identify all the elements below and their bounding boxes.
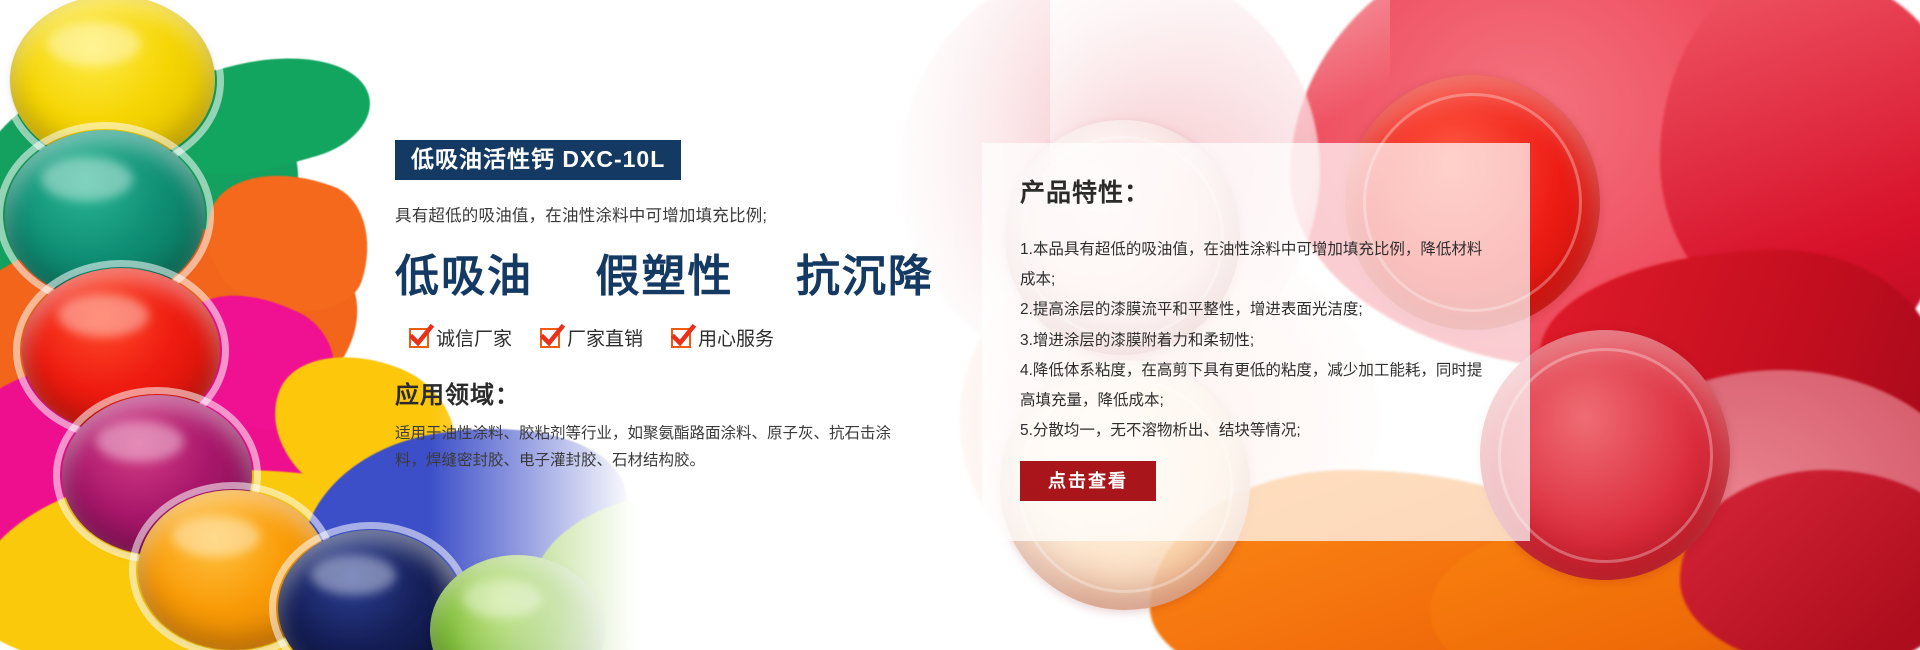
product-subtitle: 具有超低的吸油值，在油性涂料中可增加填充比例; (395, 202, 915, 226)
headline-part-2: 假塑性 (595, 252, 733, 301)
product-headline: 低吸油 假塑性 抗沉降 (395, 240, 915, 304)
view-details-button[interactable]: 点击查看 (1020, 461, 1156, 501)
panel-inner: 产品特性： 1.本品具有超低的吸油值，在油性涂料中可增加填充比例，降低材料成本;… (982, 143, 1530, 447)
feature-item-service: 用心服务 (671, 324, 774, 351)
product-characteristics-panel: 产品特性： 1.本品具有超低的吸油值，在油性涂料中可增加填充比例，降低材料成本;… (982, 143, 1530, 541)
paint-puddle-crimson-right (1660, 0, 1920, 350)
feature-label-trustworthy: 诚信厂家 (436, 324, 512, 351)
paint-puddle-deep-red (1540, 250, 1920, 480)
characteristics-list: 1.本品具有超低的吸油值，在油性涂料中可增加填充比例，降低材料成本; 2.提高涂… (1020, 235, 1496, 447)
paint-pot-red (22, 268, 220, 433)
paint-pot-red-rim (13, 260, 229, 441)
paint-pot-green (430, 555, 605, 650)
checkbox-checked-icon (540, 328, 560, 348)
paint-stroke-magenta-tail (157, 272, 359, 453)
checkbox-checked-icon (409, 328, 429, 348)
product-banner: 低吸油活性钙 DXC-10L 具有超低的吸油值，在油性涂料中可增加填充比例; 低… (0, 0, 1920, 650)
paint-stroke-orange (0, 202, 373, 478)
characteristic-item-2: 2.提高涂层的漆膜流平和平整性，增进表面光洁度; (1020, 295, 1496, 325)
application-fields-body: 适用于油性涂料、胶粘剂等行业，如聚氨酯路面涂料、原子灰、抗石击涂料，焊缝密封胶、… (395, 420, 895, 474)
feature-item-direct-sales: 厂家直销 (540, 324, 643, 351)
paint-pot-magenta (62, 395, 252, 555)
product-title-badge: 低吸油活性钙 DXC-10L (395, 140, 681, 180)
paint-stroke-green (0, 37, 322, 352)
panel-heading: 产品特性： (1020, 173, 1496, 209)
left-paint-artwork (0, 0, 1920, 650)
left-content-column: 低吸油活性钙 DXC-10L 具有超低的吸油值，在油性涂料中可增加填充比例; 低… (395, 140, 915, 474)
paint-pot-teal-rim (0, 122, 214, 308)
headline-part-1: 低吸油 (395, 252, 533, 301)
paint-puddle-crimson-bottom (1680, 470, 1920, 650)
paint-stroke-green-tail (139, 32, 381, 198)
paint-pot-teal (5, 130, 205, 300)
feature-label-service: 用心服务 (698, 324, 774, 351)
paint-pot-orange (138, 490, 328, 650)
paint-pot-navy (278, 530, 463, 650)
paint-pot-yellow-rim (2, 0, 224, 174)
characteristic-item-4: 4.降低体系粘度，在高剪下具有更低的粘度，减少加工能耗，同时提高填充量，降低成本… (1020, 356, 1496, 416)
paint-pot-orange-rim (129, 482, 337, 650)
feature-item-trustworthy: 诚信厂家 (409, 324, 512, 351)
paint-stroke-magenta (0, 331, 388, 579)
feature-label-direct-sales: 厂家直销 (567, 324, 643, 351)
headline-part-3: 抗沉降 (796, 252, 934, 301)
characteristic-item-1: 1.本品具有超低的吸油值，在油性涂料中可增加填充比例，降低材料成本; (1020, 235, 1496, 295)
characteristic-item-5: 5.分散均一，无不溶物析出、结块等情况; (1020, 416, 1496, 446)
paint-pot-magenta-rim (53, 387, 261, 563)
paint-puddle-rose-wash (1580, 370, 1920, 650)
paint-stroke-orange-tail (188, 153, 387, 332)
checkbox-checked-icon (671, 328, 691, 348)
paint-pot-navy-rim (269, 522, 472, 650)
application-fields-heading: 应用领域： (395, 375, 915, 410)
paint-stroke-yellow (0, 454, 446, 650)
feature-badge-row: 诚信厂家 厂家直销 用心服务 (409, 324, 915, 351)
paint-stroke-lime (521, 479, 808, 650)
right-paint-artwork (0, 0, 1920, 650)
characteristic-item-3: 3.增进涂层的漆膜附着力和柔韧性; (1020, 326, 1496, 356)
paint-pot-yellow (10, 0, 215, 165)
